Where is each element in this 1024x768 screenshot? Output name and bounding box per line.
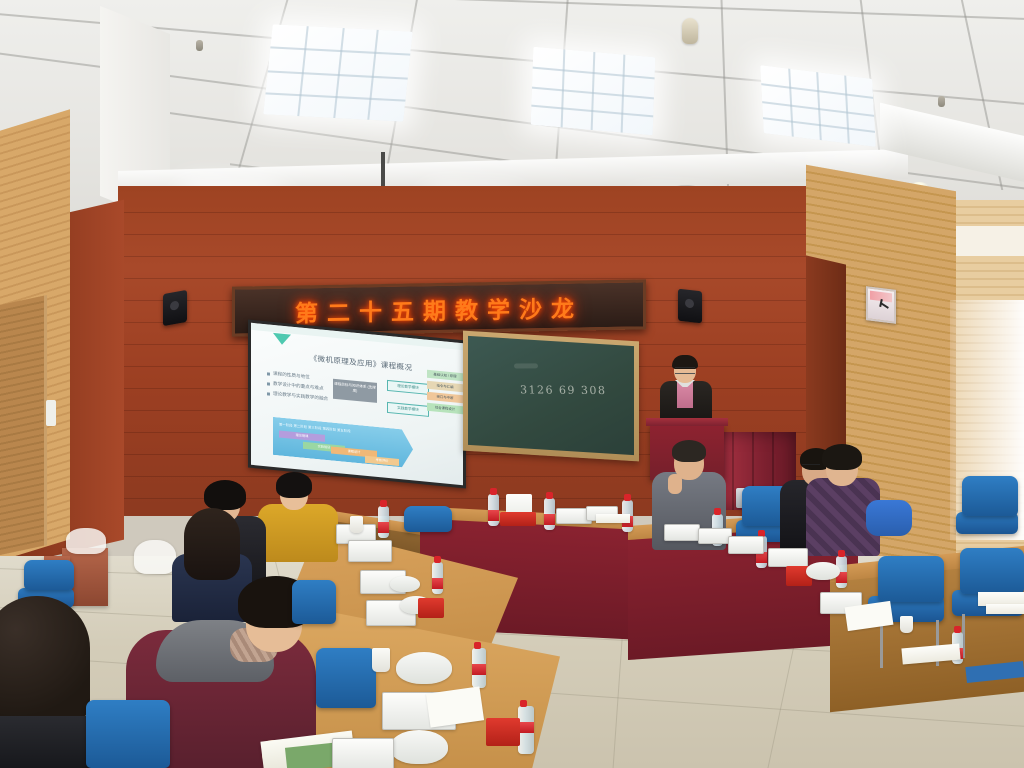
attendee-hair [204, 480, 246, 510]
chalk-smudge [514, 363, 538, 368]
water-bottle[interactable] [544, 498, 555, 530]
snack-bag[interactable] [418, 598, 444, 618]
lunch-box[interactable] [332, 738, 394, 768]
slide-bullet: 理论教学与实践教学的融合 [273, 391, 328, 402]
chair-leg [880, 620, 883, 668]
chalkboard-writing: 3126 69 308 [520, 383, 607, 397]
slide-center-box: 课程目标与知识体系 (支撑度) [333, 379, 377, 403]
left-speaker [163, 290, 187, 326]
attendee-hand [668, 474, 682, 494]
stacked-chair[interactable] [24, 560, 74, 590]
ceiling-light-panel [263, 24, 412, 121]
slide-stack-box: 指令与汇编 [427, 381, 463, 392]
light-switch-plate[interactable] [46, 400, 56, 426]
chair-back[interactable] [962, 476, 1018, 516]
plastic-bag [66, 528, 106, 554]
food-bowl[interactable] [396, 652, 452, 684]
paper-cup[interactable] [900, 616, 913, 633]
chair-back[interactable] [404, 506, 452, 532]
slide-stack-box: 接口与中断 [427, 392, 463, 403]
attendee-hair-curly [0, 596, 90, 730]
food-bowl[interactable] [390, 576, 420, 592]
water-bottle[interactable] [432, 562, 443, 594]
slide-teal-box: 实践教学模块 [387, 402, 429, 417]
slide-stack-box: 基础认知 / 原理 [427, 370, 463, 381]
slide-chevron-timeline: 第一阶段 第二阶段 第三阶段 第四阶段 第五阶段 理论授课 实验验证 课程设计 … [273, 417, 413, 468]
water-bottle[interactable] [378, 506, 389, 538]
water-bottle[interactable] [518, 706, 534, 754]
slide-stack-box: 综合课程设计 [427, 403, 463, 414]
water-bottle[interactable] [472, 648, 486, 688]
lunch-box[interactable] [664, 524, 700, 541]
slide-bullet: 课程的性质与地位 [273, 371, 310, 381]
chair-back[interactable] [292, 580, 336, 624]
right-speaker [678, 289, 702, 324]
chalkboard-surface: 3126 69 308 [468, 336, 634, 455]
water-bottle[interactable] [488, 494, 499, 526]
smoke-detector-icon [682, 18, 698, 44]
ceiling-light-panel [760, 65, 876, 147]
lunch-box[interactable] [768, 548, 808, 567]
left-door[interactable] [0, 295, 47, 555]
slide-bullet: 教学设计中的重点与难点 [273, 381, 324, 392]
snack-bag[interactable] [500, 512, 536, 526]
lunch-box[interactable] [728, 536, 764, 554]
sprinkler-head [938, 96, 945, 107]
attendee-purple-plaid [806, 444, 880, 556]
food-bowl[interactable] [806, 562, 840, 580]
attendee-curly-hair [0, 596, 94, 768]
snack-bag[interactable] [486, 718, 520, 746]
paper-sheet[interactable] [596, 514, 630, 523]
attendee-coat-on-chair [866, 500, 912, 536]
lunch-box[interactable] [698, 528, 732, 544]
chalkboard: 3126 69 308 [463, 331, 639, 462]
wall-clock-icon [866, 286, 896, 324]
projection-screen: 《微机原理及应用》课程概况 课程的性质与地位 教学设计中的重点与难点 理论教学与… [248, 320, 466, 489]
food-bowl[interactable] [390, 730, 448, 764]
attendee-hair [822, 444, 862, 470]
lunch-box[interactable] [348, 540, 392, 562]
paper-cup[interactable] [350, 516, 363, 533]
podium-top-surface [646, 418, 728, 426]
paper-cup[interactable] [372, 648, 390, 672]
ceiling-light-panel [531, 47, 656, 136]
slide-surface: 《微机原理及应用》课程概况 课程的性质与地位 教学设计中的重点与难点 理论教学与… [251, 323, 463, 485]
eyeglasses-icon [675, 367, 695, 374]
slide-teal-box: 理论教学模块 [387, 380, 429, 395]
lecture-hall-photo: 第二十五期教学沙龙 《微机原理及应用》课程概况 课程的性质与地位 教学设计中的重… [0, 0, 1024, 768]
slide-triangle-icon [273, 333, 291, 346]
attendee-hair [276, 472, 312, 498]
paper-sheet[interactable] [986, 604, 1024, 614]
attendee-yellow-coat [258, 476, 338, 562]
slide-chevron-segment: 考核评价 [365, 456, 399, 466]
attendee-torso [258, 504, 338, 562]
slide-chevron-segment: 理论授课 [279, 430, 325, 441]
chair-back[interactable] [86, 700, 170, 768]
sprinkler-head [196, 40, 203, 51]
chair-back[interactable] [878, 556, 944, 602]
attendee-hair [672, 440, 706, 462]
chair-back[interactable] [316, 648, 376, 708]
chair-back[interactable] [960, 548, 1024, 594]
